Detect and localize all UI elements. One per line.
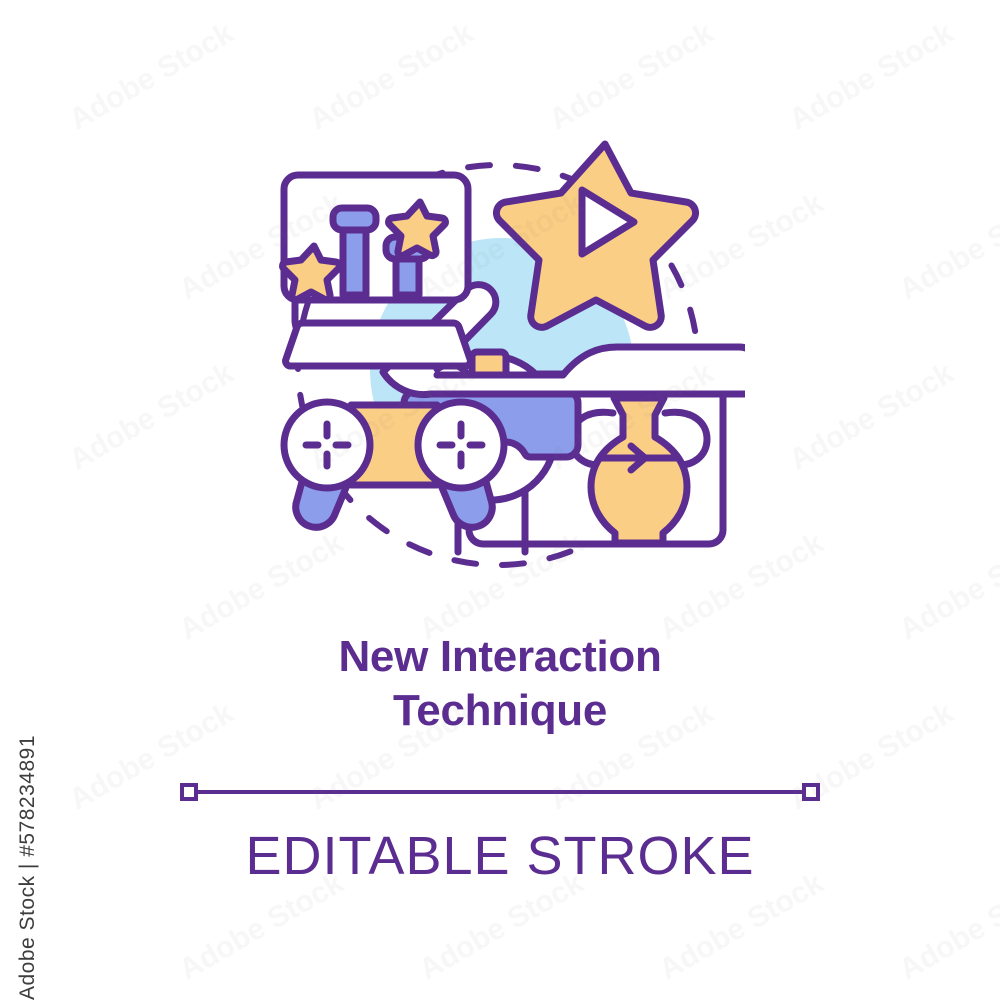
watermark-tile: Adobe Stock [894,186,1000,307]
watermark-tile: Adobe Stock [64,16,240,137]
stroke-width-rule [180,775,820,809]
stroke-rule-line [194,790,806,794]
laptop-base [286,323,471,366]
page-title-line-2: Technique [0,684,1000,738]
page-title-line-1: New Interaction [0,630,1000,684]
page-title: New Interaction Technique [0,630,1000,738]
gamepad [284,402,504,527]
stroke-handle-right[interactable] [802,783,820,801]
watermark-tile: Adobe Stock [64,356,240,477]
editable-stroke-label: EDITABLE STROKE [0,825,1000,887]
concept-illustration [255,120,745,600]
editable-stroke-block: EDITABLE STROKE [0,775,1000,887]
watermark-tile: Adobe Stock [784,356,960,477]
laptop-screen [283,175,471,366]
watermark-tile: Adobe Stock [784,16,960,137]
